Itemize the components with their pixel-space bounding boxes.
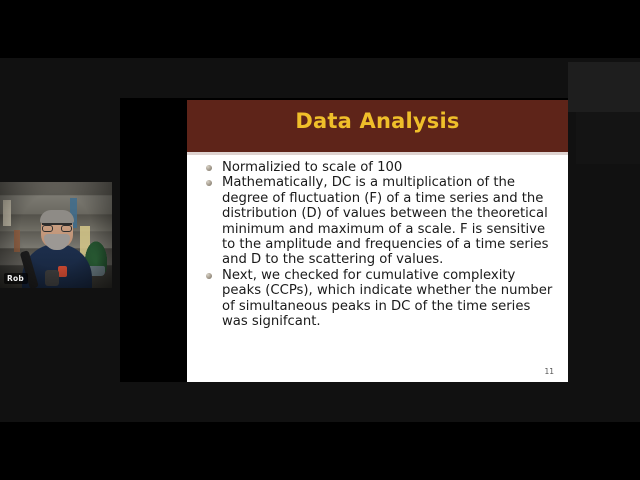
bullet-dot-icon xyxy=(206,180,212,186)
slide-body: Normalizied to scale of 100 Mathematical… xyxy=(205,160,555,329)
letterbox-bottom xyxy=(0,422,640,480)
participant-tile-placeholder-1[interactable] xyxy=(568,62,640,112)
bullet-text: Next, we checked for cumulative complexi… xyxy=(222,268,552,329)
meeting-stage: Data Analysis Normalizied to scale of 10… xyxy=(0,58,640,422)
bullet-text: Normalizied to scale of 100 xyxy=(222,160,402,175)
letterbox-top xyxy=(0,0,640,58)
participant-video-tile[interactable]: Rob xyxy=(0,182,112,288)
bullet-dot-icon xyxy=(206,273,212,279)
list-item: Normalizied to scale of 100 xyxy=(205,160,555,175)
slide-banner-divider xyxy=(187,152,568,155)
slide-bullet-list: Normalizied to scale of 100 Mathematical… xyxy=(205,160,555,329)
presentation-slide[interactable]: Data Analysis Normalizied to scale of 10… xyxy=(187,100,568,382)
video-conference-window: Data Analysis Normalizied to scale of 10… xyxy=(0,0,640,480)
slide-page-number: 11 xyxy=(544,367,554,376)
participant-tile-placeholder-2[interactable] xyxy=(576,112,640,164)
list-item: Next, we checked for cumulative complexi… xyxy=(205,268,555,330)
slide-title: Data Analysis xyxy=(187,109,568,133)
participant-name-label: Rob xyxy=(4,273,28,284)
bullet-dot-icon xyxy=(206,165,212,171)
list-item: Mathematically, DC is a multiplication o… xyxy=(205,175,555,267)
shared-screen-region[interactable]: Data Analysis Normalizied to scale of 10… xyxy=(120,98,568,382)
bullet-text: Mathematically, DC is a multiplication o… xyxy=(222,175,549,267)
